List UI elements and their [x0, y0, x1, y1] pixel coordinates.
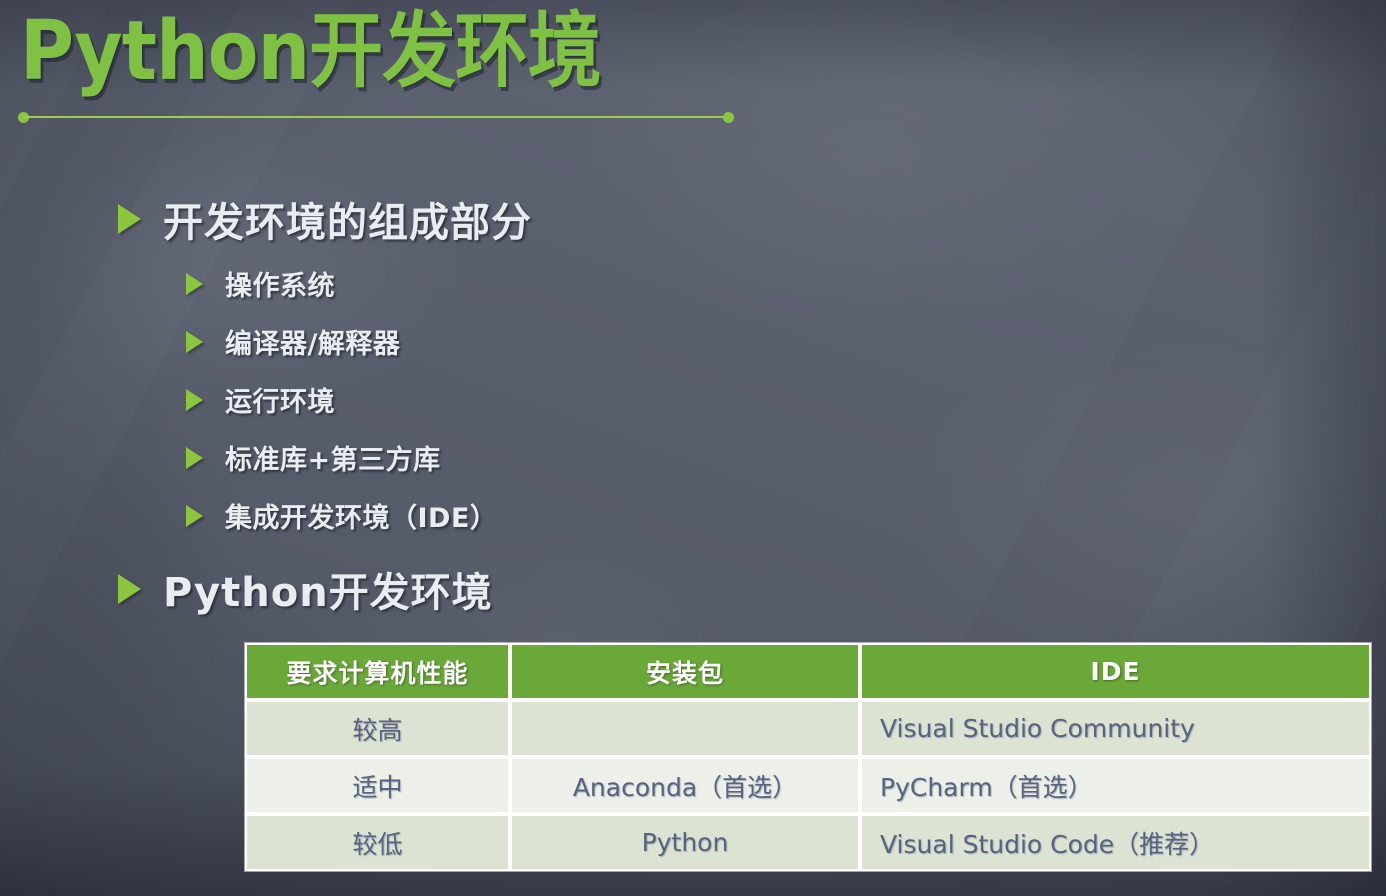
bullet-label: Python开发环境 — [163, 560, 493, 618]
table-row: 较高 Visual Studio Community — [245, 700, 1371, 757]
triangle-bullet-icon — [186, 447, 203, 469]
triangle-bullet-icon — [186, 389, 203, 411]
table-header-row: 要求计算机性能 安装包 IDE — [245, 643, 1371, 700]
bullet-item-ide: 集成开发环境（IDE） — [186, 496, 497, 535]
table-row: 适中 Anaconda（首选） PyCharm（首选） — [245, 757, 1371, 814]
column-header-performance: 要求计算机性能 — [245, 643, 510, 700]
bullet-label: 开发环境的组成部分 — [163, 190, 532, 248]
bullet-section-python-env: Python开发环境 — [118, 560, 493, 618]
bullet-label: 标准库+第三方库 — [225, 438, 441, 477]
cell-package: Anaconda（首选） — [510, 757, 860, 814]
title-divider — [18, 112, 734, 122]
triangle-bullet-icon — [186, 505, 203, 527]
bullet-label: 操作系统 — [225, 264, 335, 303]
bullet-label: 运行环境 — [225, 380, 335, 419]
cell-performance: 较高 — [245, 700, 510, 757]
triangle-bullet-icon — [118, 204, 141, 234]
slide-canvas: Python开发环境 开发环境的组成部分 操作系统 编译器/解释器 运行环境 — [0, 0, 1386, 896]
bullet-item-runtime: 运行环境 — [186, 380, 335, 419]
bullet-label: 编译器/解释器 — [225, 322, 400, 361]
triangle-bullet-icon — [186, 273, 203, 295]
bullet-section-composition: 开发环境的组成部分 — [118, 190, 532, 248]
bullet-item-os: 操作系统 — [186, 264, 335, 303]
page-title: Python开发环境 — [20, 0, 601, 104]
triangle-bullet-icon — [186, 331, 203, 353]
bullet-item-libraries: 标准库+第三方库 — [186, 438, 441, 477]
divider-line — [23, 116, 729, 118]
cell-package — [510, 700, 860, 757]
cell-ide: Visual Studio Community — [860, 700, 1371, 757]
cell-ide: PyCharm（首选） — [860, 757, 1371, 814]
title-block: Python开发环境 — [20, 0, 665, 104]
column-header-ide: IDE — [860, 643, 1371, 700]
cell-package: Python — [510, 814, 860, 871]
triangle-bullet-icon — [118, 574, 141, 604]
bullet-label: 集成开发环境（IDE） — [225, 496, 497, 535]
cell-performance: 适中 — [245, 757, 510, 814]
column-header-package: 安装包 — [510, 643, 860, 700]
environment-comparison-table: 要求计算机性能 安装包 IDE 较高 Visual Studio Communi… — [245, 643, 1371, 871]
table-row: 较低 Python Visual Studio Code（推荐） — [245, 814, 1371, 871]
cell-performance: 较低 — [245, 814, 510, 871]
slide-content-layer: Python开发环境 开发环境的组成部分 操作系统 编译器/解释器 运行环境 — [0, 0, 1386, 896]
cell-ide: Visual Studio Code（推荐） — [860, 814, 1371, 871]
bullet-item-compiler: 编译器/解释器 — [186, 322, 400, 361]
divider-dot-right — [723, 112, 734, 123]
